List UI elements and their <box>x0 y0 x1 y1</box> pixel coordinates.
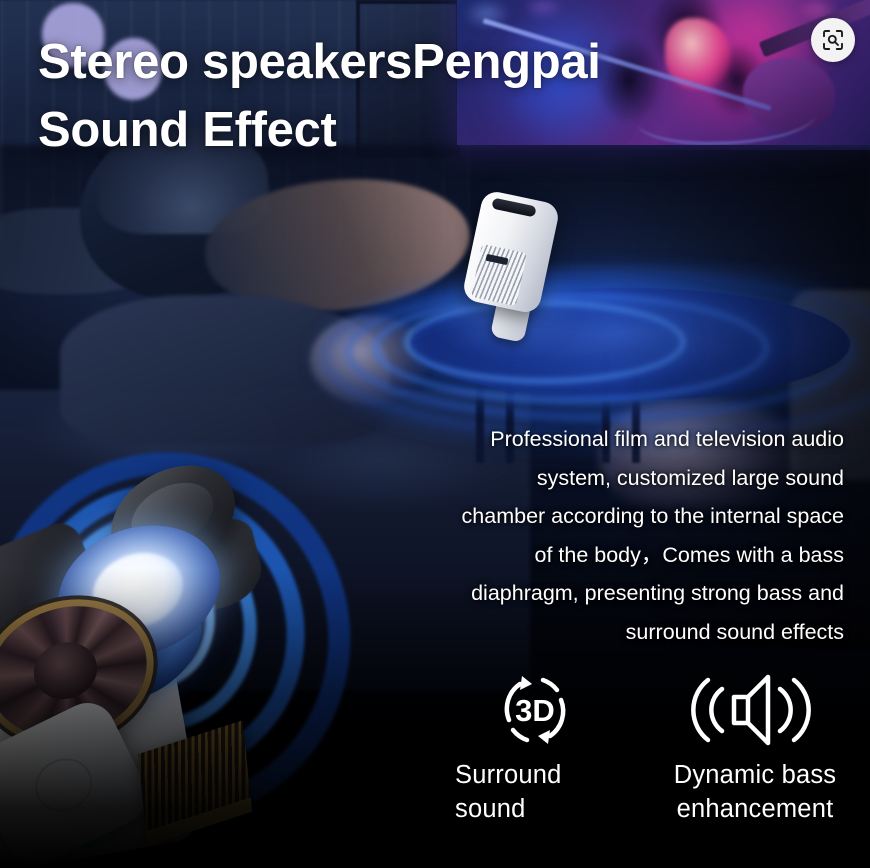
product-promo-banner: Stereo speakersPengpai Sound Effect Prof… <box>0 0 870 868</box>
exploded-speaker-assembly <box>0 440 360 868</box>
svg-text:3D: 3D <box>515 693 555 728</box>
portable-projector <box>450 196 560 346</box>
image-search-icon <box>821 28 845 52</box>
feature-list: 3D Surround sound Dynamic bass enhanceme… <box>410 662 870 862</box>
feature-caption: Dynamic bass enhancement <box>640 758 870 826</box>
speaker-waves-icon <box>688 662 822 758</box>
image-search-button[interactable] <box>811 18 855 62</box>
feature-surround-sound: 3D Surround sound <box>420 662 650 862</box>
feature-dynamic-bass: Dynamic bass enhancement <box>640 662 870 862</box>
page-title: Stereo speakersPengpai Sound Effect <box>38 28 798 164</box>
3d-surround-icon: 3D <box>489 662 581 758</box>
product-description: Professional film and television audio s… <box>452 420 844 651</box>
feature-caption: Surround sound <box>455 758 615 826</box>
